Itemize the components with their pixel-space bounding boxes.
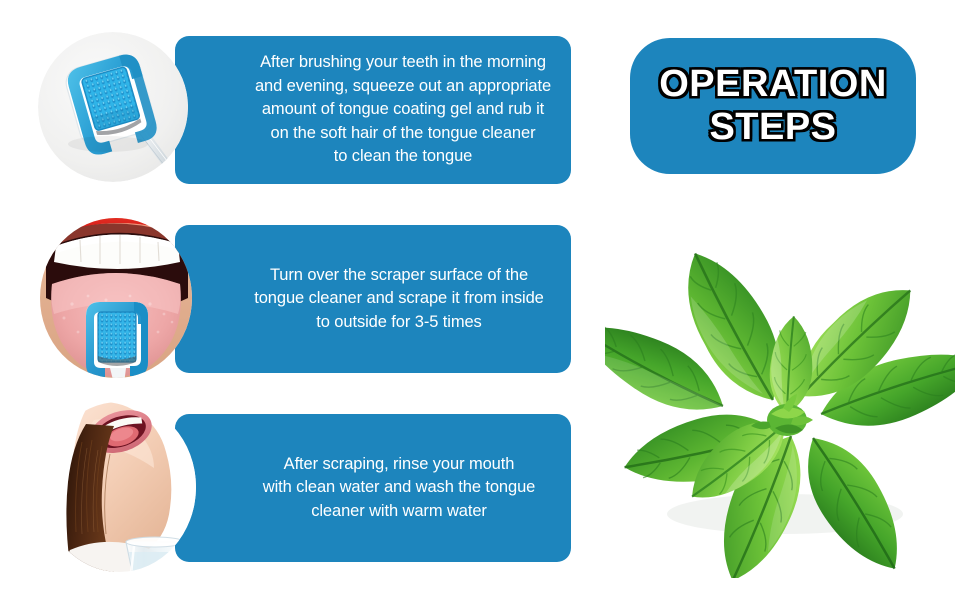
step-2-text: Turn over the scraper surface of the ton… <box>188 264 558 334</box>
step-1-text: After brushing your teeth in the morning… <box>181 51 565 168</box>
mint-leaves-photo <box>605 238 955 578</box>
tongue-cleaner-product-photo <box>38 32 188 182</box>
page-title: OPERATION STEPS <box>659 63 887 148</box>
step-panel-3: After scraping, rinse your mouth with cl… <box>175 414 571 562</box>
step-panel-1: After brushing your teeth in the morning… <box>175 36 571 184</box>
step-3-text: After scraping, rinse your mouth with cl… <box>197 453 550 523</box>
tongue-scraping-demo-photo <box>40 218 192 378</box>
operation-steps-infographic: After brushing your teeth in the morning… <box>0 0 970 600</box>
operation-steps-heading-badge: OPERATION STEPS <box>630 38 916 174</box>
mouth-rinsing-photo <box>42 402 196 572</box>
step-panel-2: Turn over the scraper surface of the ton… <box>175 225 571 373</box>
